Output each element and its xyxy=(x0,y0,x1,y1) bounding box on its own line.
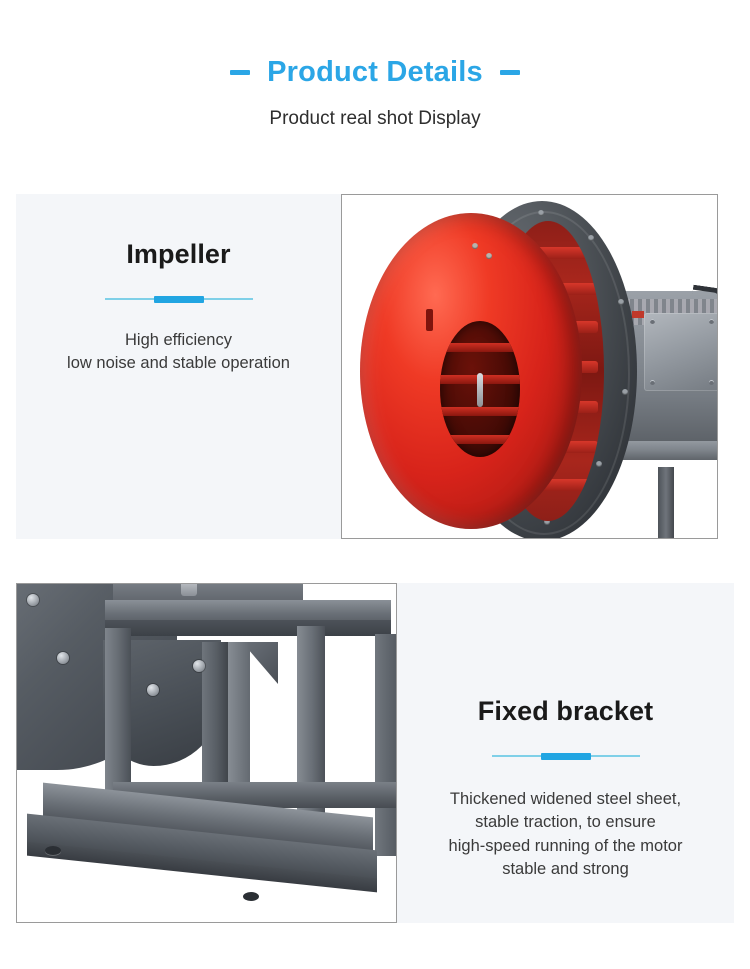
junction-box-screw xyxy=(650,380,655,385)
rim-bolt xyxy=(622,389,628,395)
hub-shaft xyxy=(477,373,483,407)
motor-junction-box xyxy=(644,313,718,391)
housing-bolt xyxy=(27,594,39,606)
bracket-top-rail-face xyxy=(105,620,391,636)
page-title-row: Product Details xyxy=(0,58,750,87)
base-mounting-hole xyxy=(243,892,259,901)
rim-bolt xyxy=(538,210,544,216)
rim-bolt xyxy=(596,461,602,467)
disc-bolt xyxy=(472,243,478,249)
motor-label xyxy=(632,311,644,318)
impeller-front-disc xyxy=(360,213,582,529)
bracket-title: Fixed bracket xyxy=(478,698,653,725)
title-dash-right-icon xyxy=(500,70,520,75)
bracket-text-panel: Fixed bracket Thickened widened steel sh… xyxy=(397,583,734,923)
housing-bolt xyxy=(193,660,205,672)
stand-leg-right xyxy=(658,467,674,539)
page-title: Product Details xyxy=(267,58,483,87)
section-fixed-bracket: Fixed bracket Thickened widened steel sh… xyxy=(16,583,734,923)
divider-bar xyxy=(541,753,591,760)
page-header: Product Details Product real shot Displa… xyxy=(0,0,750,128)
bracket-divider xyxy=(492,752,640,760)
junction-box-screw xyxy=(650,319,655,324)
disc-bolt xyxy=(486,253,492,259)
impeller-photo xyxy=(342,195,717,538)
impeller-text-panel: Impeller High efficiency low noise and s… xyxy=(16,194,341,539)
impeller-divider xyxy=(105,295,253,303)
hub-vane xyxy=(440,435,520,444)
hub-vane xyxy=(440,343,520,352)
disc-notch xyxy=(426,309,433,331)
rim-bolt xyxy=(618,299,624,305)
housing-bolt xyxy=(57,652,69,664)
junction-box-screw xyxy=(709,319,714,324)
page-subtitle: Product real shot Display xyxy=(0,109,750,128)
housing-bolt xyxy=(147,684,159,696)
rim-bolt xyxy=(588,235,594,241)
section-impeller: Impeller High efficiency low noise and s… xyxy=(16,194,734,539)
impeller-description: High efficiency low noise and stable ope… xyxy=(67,329,290,376)
title-dash-left-icon xyxy=(230,70,250,75)
bracket-leg-far-right xyxy=(375,634,397,856)
impeller-hub-opening xyxy=(440,321,520,457)
divider-bar xyxy=(154,296,204,303)
impeller-photo-card xyxy=(341,194,718,539)
bracket-photo xyxy=(17,584,396,922)
impeller-title: Impeller xyxy=(126,241,230,268)
bracket-photo-card xyxy=(16,583,397,923)
top-mounting-bolt xyxy=(181,583,197,596)
hub-vane xyxy=(440,407,520,416)
junction-box-screw xyxy=(709,380,714,385)
base-mounting-hole xyxy=(45,846,61,855)
bracket-description: Thickened widened steel sheet, stable tr… xyxy=(449,788,683,882)
